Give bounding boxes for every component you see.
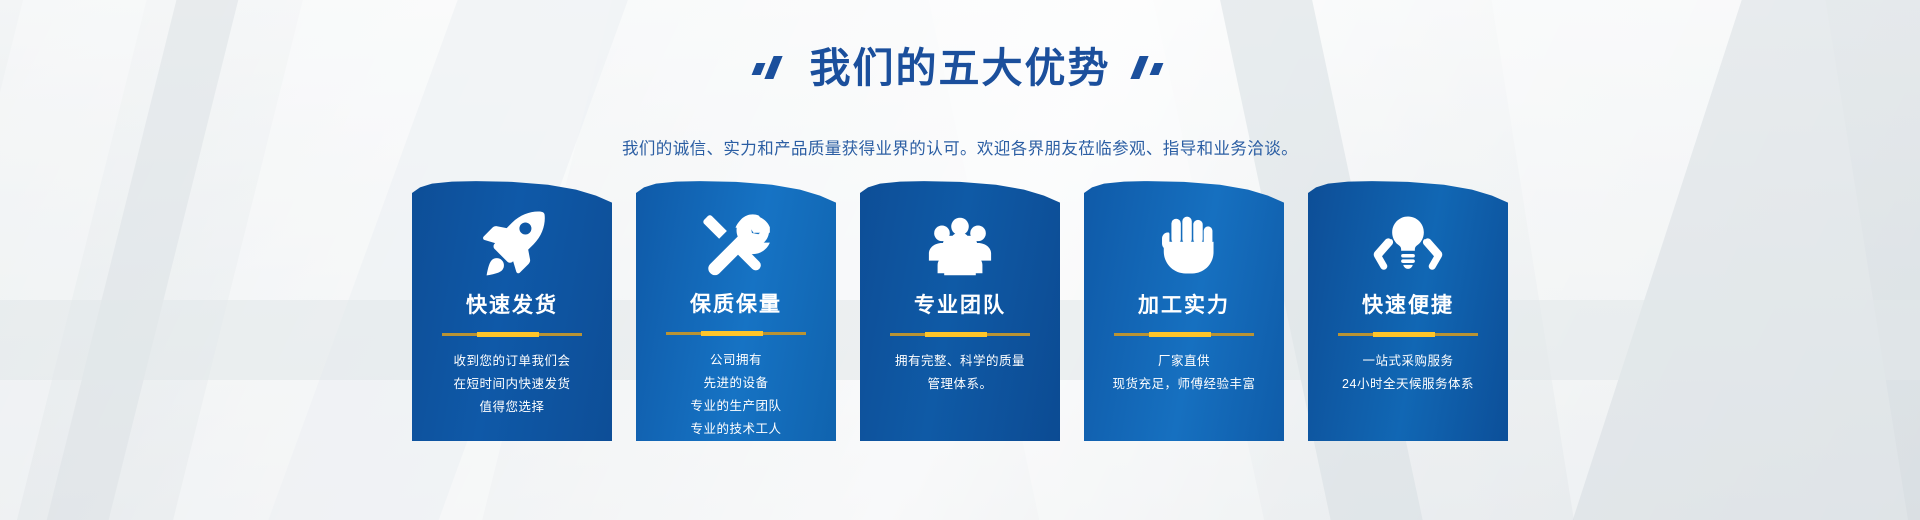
card-title: 保质保量 bbox=[690, 294, 782, 315]
card-description-line: 24小时全天候服务体系 bbox=[1342, 373, 1474, 396]
card-content: 快速便捷一站式采购服务24小时全天候服务体系 bbox=[1308, 181, 1508, 441]
card-description-line: 一站式采购服务 bbox=[1342, 350, 1474, 373]
advantages-section: 我们的五大优势 我们的诚信、实力和产品质量获得业界的认可。欢迎各界朋友莅临参观、… bbox=[0, 0, 1920, 520]
double-slash-ornament-left bbox=[754, 56, 788, 82]
team-people-icon bbox=[860, 181, 1060, 293]
section-subtitle: 我们的诚信、实力和产品质量获得业界的认可。欢迎各界朋友莅临参观、指导和业务洽谈。 bbox=[0, 135, 1920, 159]
card-title: 快速发货 bbox=[466, 295, 558, 316]
card-description-line: 收到您的订单我们会 bbox=[453, 350, 570, 373]
advantage-card-list: 快速发货收到您的订单我们会在短时间内快速发货值得您选择 保质保量公司拥有先进的设… bbox=[0, 181, 1920, 441]
advantage-card[interactable]: 保质保量公司拥有先进的设备专业的生产团队专业的技术工人 bbox=[636, 181, 836, 441]
card-title: 加工实力 bbox=[1138, 295, 1230, 316]
card-divider bbox=[890, 333, 1030, 336]
card-description: 公司拥有先进的设备专业的生产团队专业的技术工人 bbox=[690, 349, 781, 442]
card-content: 快速发货收到您的订单我们会在短时间内快速发货值得您选择 bbox=[412, 181, 612, 441]
card-description-line: 公司拥有 bbox=[690, 349, 781, 372]
card-divider bbox=[1114, 333, 1254, 336]
card-description: 厂家直供现货充足，师傅经验丰富 bbox=[1112, 350, 1255, 396]
card-description: 拥有完整、科学的质量管理体系。 bbox=[895, 350, 1025, 396]
fist-icon bbox=[1084, 181, 1284, 293]
lightbulb-hands-icon bbox=[1308, 181, 1508, 293]
double-slash-ornament-right bbox=[1133, 56, 1167, 82]
card-description-line: 现货充足，师傅经验丰富 bbox=[1112, 373, 1255, 396]
rocket-icon bbox=[412, 181, 612, 293]
advantage-card[interactable]: 专业团队拥有完整、科学的质量管理体系。 bbox=[860, 181, 1060, 441]
card-description-line: 值得您选择 bbox=[453, 396, 570, 419]
card-divider bbox=[1338, 333, 1478, 336]
card-description-line: 厂家直供 bbox=[1112, 350, 1255, 373]
advantage-card[interactable]: 快速发货收到您的订单我们会在短时间内快速发货值得您选择 bbox=[412, 181, 612, 441]
card-content: 专业团队拥有完整、科学的质量管理体系。 bbox=[860, 181, 1060, 441]
section-header: 我们的五大优势 我们的诚信、实力和产品质量获得业界的认可。欢迎各界朋友莅临参观、… bbox=[0, 0, 1920, 159]
card-description-line: 拥有完整、科学的质量 bbox=[895, 350, 1025, 373]
page-title: 我们的五大优势 bbox=[810, 45, 1111, 92]
card-title: 专业团队 bbox=[914, 295, 1006, 316]
advantage-card[interactable]: 加工实力厂家直供现货充足，师傅经验丰富 bbox=[1084, 181, 1284, 441]
card-description-line: 先进的设备 bbox=[690, 372, 781, 395]
card-title: 快速便捷 bbox=[1362, 295, 1454, 316]
card-description-line: 专业的生产团队 bbox=[690, 395, 781, 418]
card-divider bbox=[442, 333, 582, 336]
wrench-screwdriver-icon bbox=[636, 181, 836, 292]
card-content: 保质保量公司拥有先进的设备专业的生产团队专业的技术工人 bbox=[636, 181, 836, 441]
card-description-line: 专业的技术工人 bbox=[690, 418, 781, 441]
card-description: 一站式采购服务24小时全天候服务体系 bbox=[1342, 350, 1474, 396]
advantage-card[interactable]: 快速便捷一站式采购服务24小时全天候服务体系 bbox=[1308, 181, 1508, 441]
card-divider bbox=[666, 332, 806, 335]
card-content: 加工实力厂家直供现货充足，师傅经验丰富 bbox=[1084, 181, 1284, 441]
card-description: 收到您的订单我们会在短时间内快速发货值得您选择 bbox=[453, 350, 570, 419]
card-description-line: 在短时间内快速发货 bbox=[453, 373, 570, 396]
card-description-line: 管理体系。 bbox=[895, 373, 1025, 396]
